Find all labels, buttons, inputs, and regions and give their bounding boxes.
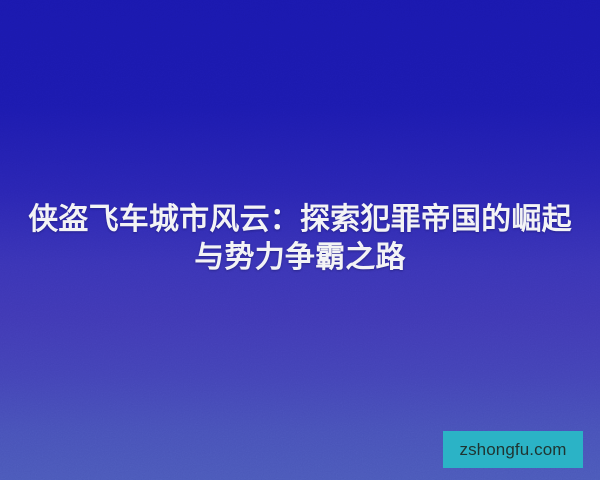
watermark-badge: zshongfu.com [443, 431, 583, 468]
page-title: 侠盗飞车城市风云：探索犯罪帝国的崛起与势力争霸之路 [0, 201, 600, 277]
poster-canvas: 侠盗飞车城市风云：探索犯罪帝国的崛起与势力争霸之路 zshongfu.com [0, 0, 600, 480]
watermark-site-label: zshongfu.com [459, 441, 566, 458]
